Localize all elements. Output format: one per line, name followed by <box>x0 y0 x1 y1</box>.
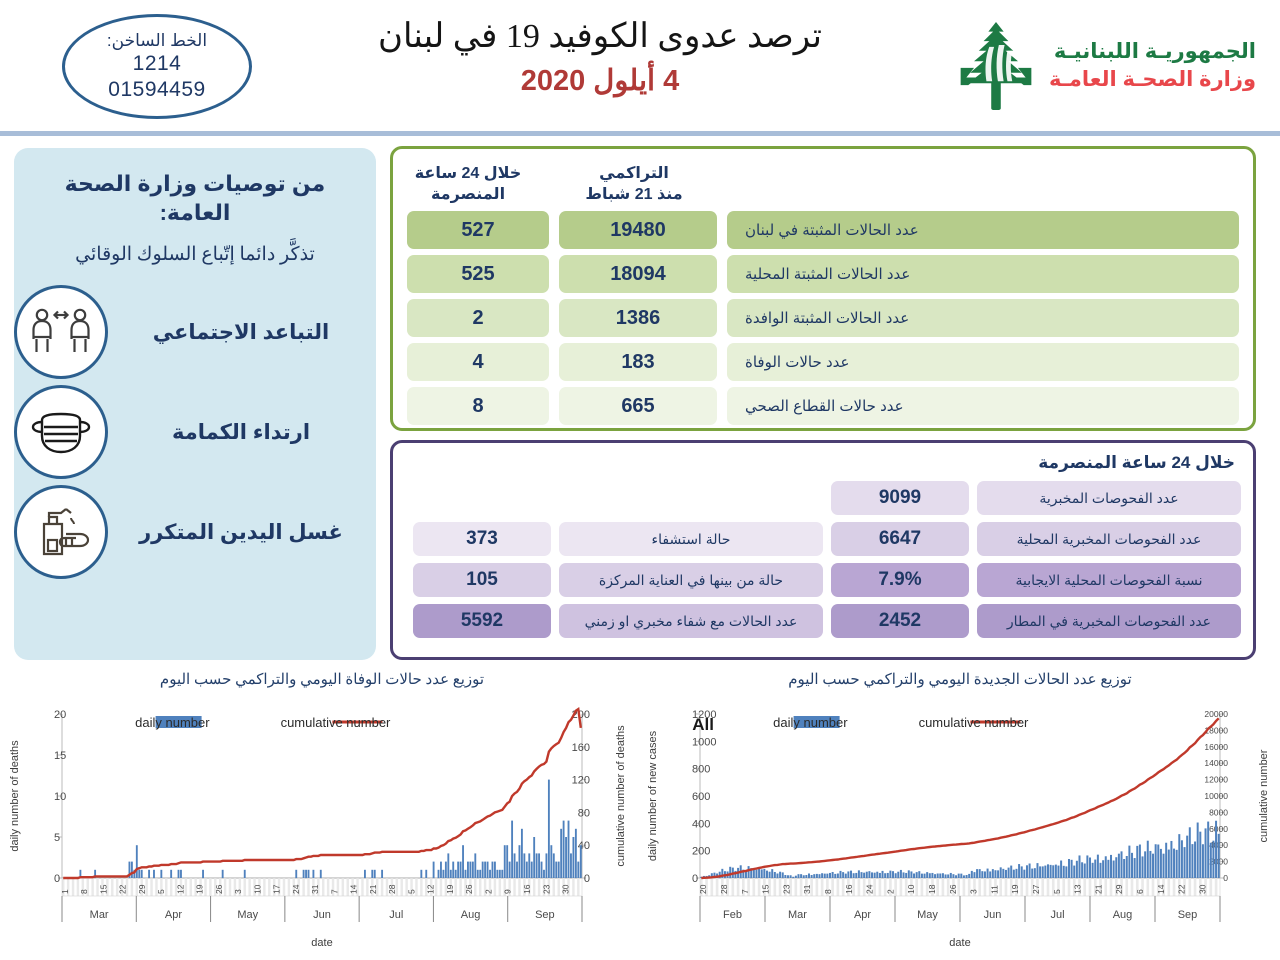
cases-summary-table: التراكمي منذ 21 شباط خلال 24 ساعة المنصر… <box>390 146 1256 431</box>
column-header-cumulative-line2: منذ 21 شباط <box>585 185 682 206</box>
svg-text:16000: 16000 <box>1204 742 1228 752</box>
svg-text:cumulative number: cumulative number <box>919 715 1029 730</box>
svg-text:8000: 8000 <box>1209 807 1228 817</box>
row-label: عدد حالات القطاع الصحي <box>727 387 1239 425</box>
row-label-right: نسبة الفحوصات المحلية الايجابية <box>977 563 1241 597</box>
table-row: عدد حالات الوفاة 183 4 <box>407 343 1239 381</box>
svg-text:19: 19 <box>445 884 455 894</box>
svg-text:Apr: Apr <box>165 909 182 921</box>
svg-text:May: May <box>237 909 258 921</box>
svg-text:26: 26 <box>464 884 474 894</box>
svg-text:40: 40 <box>578 840 590 852</box>
svg-text:Jul: Jul <box>1050 909 1064 921</box>
column-header-cumulative: التراكمي منذ 21 شباط <box>549 159 719 211</box>
svg-text:15: 15 <box>761 884 771 894</box>
row-value-left-empty <box>413 481 551 515</box>
svg-text:31: 31 <box>802 884 812 894</box>
row-cumulative-value: 665 <box>559 387 717 425</box>
svg-text:26: 26 <box>948 884 958 894</box>
svg-text:9: 9 <box>503 889 513 894</box>
social-distancing-icon <box>14 285 108 379</box>
svg-text:28: 28 <box>387 884 397 894</box>
face-mask-icon <box>14 385 108 479</box>
svg-text:Jun: Jun <box>984 909 1002 921</box>
header-divider <box>0 131 1280 136</box>
svg-text:cumulative number of deaths: cumulative number of deaths <box>615 725 627 867</box>
recommendation-label: غسل اليدين المتكرر <box>122 520 360 545</box>
svg-text:6: 6 <box>1135 889 1145 894</box>
svg-text:80: 80 <box>578 807 590 819</box>
ministry-label: وزارة الصحـة العامـة <box>1049 66 1256 94</box>
column-header-last24h: خلال 24 ساعة المنصرمة <box>393 159 543 211</box>
table-row: نسبة الفحوصات المحلية الايجابية 7.9% حال… <box>405 563 1241 597</box>
row-label-right: عدد الفحوصات المخبرية المحلية <box>977 522 1241 556</box>
svg-text:24: 24 <box>865 884 875 894</box>
svg-text:21: 21 <box>1093 884 1103 894</box>
row-last24h-value: 525 <box>407 255 549 293</box>
svg-text:12: 12 <box>175 884 185 894</box>
svg-text:24: 24 <box>291 884 301 894</box>
svg-text:15: 15 <box>54 750 66 762</box>
recommendation-item-hand-washing: غسل اليدين المتكرر <box>14 478 376 586</box>
svg-text:23: 23 <box>541 884 551 894</box>
lebanon-cedar-icon <box>953 18 1039 114</box>
svg-text:28: 28 <box>719 884 729 894</box>
row-value-right: 6647 <box>831 522 969 556</box>
svg-text:All: All <box>692 715 714 734</box>
row-label: عدد حالات الوفاة <box>727 343 1239 381</box>
svg-text:26: 26 <box>214 884 224 894</box>
svg-text:3: 3 <box>969 889 979 894</box>
svg-text:30: 30 <box>1197 884 1207 894</box>
row-value-left: 5592 <box>413 604 551 638</box>
svg-text:daily number: daily number <box>135 715 210 730</box>
table-row: عدد حالات القطاع الصحي 665 8 <box>407 387 1239 425</box>
row-last24h-value: 2 <box>407 299 549 337</box>
svg-text:8: 8 <box>823 889 833 894</box>
svg-text:Aug: Aug <box>461 909 481 921</box>
recommendations-panel: من توصيات وزارة الصحة العامة: تذكَّر دائ… <box>14 148 376 660</box>
table-row: عدد الحالات المثبتة في لبنان 19480 527 <box>407 211 1239 249</box>
svg-text:29: 29 <box>137 884 147 894</box>
testing-table-header: خلال 24 ساعة المنصرمة <box>393 443 1253 473</box>
row-label-left-empty <box>559 481 823 515</box>
row-label: عدد الحالات المثبتة الوافدة <box>727 299 1239 337</box>
svg-text:23: 23 <box>781 884 791 894</box>
svg-text:1: 1 <box>60 889 70 894</box>
svg-text:Jun: Jun <box>313 909 331 921</box>
row-label: عدد الحالات المثبتة في لبنان <box>727 211 1239 249</box>
svg-text:29: 29 <box>1114 884 1124 894</box>
row-last24h-value: 527 <box>407 211 549 249</box>
svg-text:19: 19 <box>1010 884 1020 894</box>
row-label-right: عدد الفحوصات المخبرية <box>977 481 1241 515</box>
svg-text:daily number of new cases: daily number of new cases <box>647 730 659 861</box>
cases-table-body: عدد الحالات المثبتة في لبنان 19480 527 ع… <box>393 211 1253 439</box>
svg-text:5: 5 <box>156 889 166 894</box>
svg-text:2: 2 <box>885 889 895 894</box>
svg-text:Sep: Sep <box>1178 909 1198 921</box>
svg-text:13: 13 <box>1073 884 1083 894</box>
column-header-cumulative-line1: التراكمي <box>585 164 682 185</box>
column-header-last24h-line1: خلال 24 ساعة <box>415 164 522 185</box>
recommendations-title: من توصيات وزارة الصحة العامة: <box>36 170 354 227</box>
svg-text:15: 15 <box>98 884 108 894</box>
svg-text:20: 20 <box>698 884 708 894</box>
page-header: الخط الساخن: 1214 01594459 ترصد عدوى الك… <box>0 0 1280 134</box>
svg-text:22: 22 <box>1177 884 1187 894</box>
svg-text:18: 18 <box>927 884 937 894</box>
svg-text:30: 30 <box>561 884 571 894</box>
row-cumulative-value: 19480 <box>559 211 717 249</box>
svg-text:cumulative number: cumulative number <box>281 715 391 730</box>
hotline-label: الخط الساخن: <box>107 30 207 51</box>
hotline-badge: الخط الساخن: 1214 01594459 <box>62 14 252 119</box>
recommendation-item-social-distancing: التباعد الاجتماعي <box>14 278 376 386</box>
svg-text:14000: 14000 <box>1204 758 1228 768</box>
svg-text:5: 5 <box>54 832 60 844</box>
table-row: عدد الفحوصات المخبرية 9099 <box>405 481 1241 515</box>
svg-text:10: 10 <box>906 884 916 894</box>
new-cases-chart-plot: 0200400600800100012000200040006000800010… <box>642 692 1278 954</box>
svg-text:27: 27 <box>1031 884 1041 894</box>
row-label-left: عدد الحالات مع شفاء مخبري او زمني <box>559 604 823 638</box>
svg-text:May: May <box>917 909 938 921</box>
row-last24h-value: 8 <box>407 387 549 425</box>
svg-text:5: 5 <box>1052 889 1062 894</box>
svg-text:1000: 1000 <box>692 736 716 748</box>
deaths-chart-plot: 0510152004080120160200daily number of de… <box>4 692 640 954</box>
svg-text:Mar: Mar <box>788 909 807 921</box>
svg-text:12000: 12000 <box>1204 775 1228 785</box>
svg-text:19: 19 <box>195 884 205 894</box>
ministry-logo-text: الجمهوريـة اللبنانيـة وزارة الصحـة العام… <box>1049 38 1256 95</box>
svg-text:3: 3 <box>233 889 243 894</box>
svg-text:600: 600 <box>692 791 710 803</box>
page-title: ترصد عدوى الكوفيد 19 في لبنان <box>300 16 900 59</box>
deaths-chart: توزيع عدد حالات الوفاة اليومي والتراكمي … <box>4 666 640 960</box>
recommendation-label: ارتداء الكمامة <box>122 420 360 445</box>
new-cases-chart: توزيع عدد الحالات الجديدة اليومي والتراك… <box>642 666 1278 960</box>
row-value-left: 105 <box>413 563 551 597</box>
svg-text:16: 16 <box>522 884 532 894</box>
testing-summary-table: خلال 24 ساعة المنصرمة عدد الفحوصات المخب… <box>390 440 1256 660</box>
svg-text:10000: 10000 <box>1204 791 1228 801</box>
hotline-number-secondary: 01594459 <box>108 77 205 103</box>
svg-text:Mar: Mar <box>90 909 109 921</box>
svg-text:7: 7 <box>329 889 339 894</box>
svg-text:31: 31 <box>310 884 320 894</box>
svg-text:date: date <box>949 937 970 949</box>
svg-text:16: 16 <box>844 884 854 894</box>
recommendation-label: التباعد الاجتماعي <box>122 320 360 345</box>
svg-text:cumulative number: cumulative number <box>1258 749 1270 842</box>
ministry-logo: الجمهوريـة اللبنانيـة وزارة الصحـة العام… <box>953 18 1256 114</box>
svg-text:22: 22 <box>118 884 128 894</box>
cases-table-header: التراكمي منذ 21 شباط خلال 24 ساعة المنصر… <box>393 149 1253 211</box>
svg-text:2: 2 <box>484 889 494 894</box>
row-cumulative-value: 183 <box>559 343 717 381</box>
svg-text:5: 5 <box>406 889 416 894</box>
recommendations-list: التباعد الاجتماعي ارتداء الكمامة <box>14 278 376 586</box>
svg-text:14: 14 <box>1156 884 1166 894</box>
svg-text:21: 21 <box>368 884 378 894</box>
svg-text:200: 200 <box>692 846 710 858</box>
svg-text:10: 10 <box>54 791 66 803</box>
row-label-left: حالة استشفاء <box>559 522 823 556</box>
table-row: عدد الفحوصات المخبرية في المطار 2452 عدد… <box>405 604 1241 638</box>
svg-text:Aug: Aug <box>1113 909 1133 921</box>
svg-text:Apr: Apr <box>854 909 871 921</box>
hand-washing-icon <box>14 485 108 579</box>
table-row: عدد الحالات المثبتة الوافدة 1386 2 <box>407 299 1239 337</box>
testing-table-body: عدد الفحوصات المخبرية 9099 عدد الفحوصات … <box>393 473 1253 638</box>
row-value-right: 2452 <box>831 604 969 638</box>
svg-text:10: 10 <box>252 884 262 894</box>
svg-text:date: date <box>311 937 332 949</box>
svg-text:20000: 20000 <box>1204 709 1228 719</box>
svg-text:11: 11 <box>989 885 999 894</box>
svg-text:17: 17 <box>272 884 282 894</box>
table-row: عدد الحالات المثبتة المحلية 18094 525 <box>407 255 1239 293</box>
column-header-last24h-line2: المنصرمة <box>415 185 522 206</box>
row-value-right: 9099 <box>831 481 969 515</box>
row-cumulative-value: 1386 <box>559 299 717 337</box>
svg-text:14: 14 <box>349 884 359 894</box>
row-label-left: حالة من بينها في العناية المركزة <box>559 563 823 597</box>
svg-text:12: 12 <box>426 884 436 894</box>
svg-text:Jul: Jul <box>389 909 403 921</box>
hotline-number-primary: 1214 <box>133 51 182 77</box>
report-date: 4 أيلول 2020 <box>300 63 900 98</box>
row-last24h-value: 4 <box>407 343 549 381</box>
svg-text:Feb: Feb <box>723 909 742 921</box>
svg-text:daily number of deaths: daily number of deaths <box>9 740 21 852</box>
recommendations-subtitle: تذكَّر دائما إتّباع السلوك الوقائي <box>32 243 358 266</box>
row-cumulative-value: 18094 <box>559 255 717 293</box>
deaths-chart-title: توزيع عدد حالات الوفاة اليومي والتراكمي … <box>4 666 640 692</box>
row-label: عدد الحالات المثبتة المحلية <box>727 255 1239 293</box>
svg-text:160: 160 <box>572 742 590 754</box>
republic-label: الجمهوريـة اللبنانيـة <box>1049 38 1256 66</box>
row-label-right: عدد الفحوصات المخبرية في المطار <box>977 604 1241 638</box>
svg-text:0: 0 <box>584 873 590 885</box>
svg-text:7: 7 <box>740 889 750 894</box>
svg-text:8: 8 <box>79 889 89 894</box>
title-block: ترصد عدوى الكوفيد 19 في لبنان 4 أيلول 20… <box>300 16 900 98</box>
svg-text:Sep: Sep <box>535 909 555 921</box>
svg-text:400: 400 <box>692 818 710 830</box>
recommendation-item-face-mask: ارتداء الكمامة <box>14 378 376 486</box>
table-row: عدد الفحوصات المخبرية المحلية 6647 حالة … <box>405 522 1241 556</box>
svg-text:6000: 6000 <box>1209 824 1228 834</box>
row-value-left: 373 <box>413 522 551 556</box>
row-value-right: 7.9% <box>831 563 969 597</box>
svg-text:0: 0 <box>54 873 60 885</box>
svg-text:120: 120 <box>572 775 590 787</box>
new-cases-chart-title: توزيع عدد الحالات الجديدة اليومي والتراك… <box>642 666 1278 692</box>
svg-text:800: 800 <box>692 764 710 776</box>
svg-text:20: 20 <box>54 709 66 721</box>
svg-text:0: 0 <box>1223 873 1228 883</box>
svg-text:0: 0 <box>692 873 698 885</box>
svg-text:daily number: daily number <box>773 715 848 730</box>
